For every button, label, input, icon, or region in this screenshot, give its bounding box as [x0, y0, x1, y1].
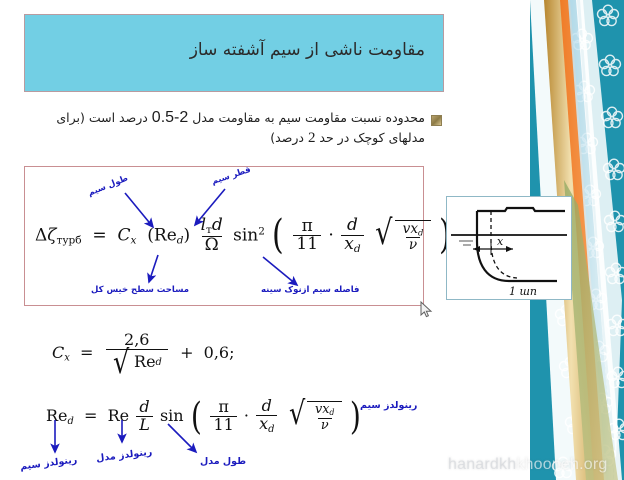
eq1-sin-exponent: 2	[258, 226, 265, 238]
radical-sign-icon: √	[113, 350, 129, 375]
mouse-pointer	[420, 301, 434, 319]
eq1-eleven: 11	[296, 234, 318, 254]
diagram-label-x: x	[497, 235, 504, 248]
eq3-fraction-vxd-nu: vxd ν	[312, 403, 338, 432]
radical-sign-icon: √	[375, 220, 392, 252]
eq3-d2: d	[262, 396, 272, 415]
eq1-nu: ν	[409, 237, 417, 253]
eq1-cx-sub: x	[131, 234, 137, 246]
eq1-square-root: √ vxd ν	[373, 220, 431, 252]
eq1-xd: x	[344, 234, 354, 254]
hull-bow-profile-diagram: x 1 шп	[446, 196, 572, 300]
eq3-nu: ν	[321, 418, 329, 433]
watermark-dim-text: hanardkh	[448, 456, 516, 473]
bullet-paragraph: محدوده نسبت مقاومت سیم به مقاومت مدل 0.5…	[22, 108, 442, 148]
eq1-fraction-vxd-nu: vxd ν	[400, 222, 427, 252]
eq2-const: 0,6;	[204, 343, 235, 362]
label-wetted-area: مساحت سطح خیس کل	[91, 285, 189, 295]
eq1-re-sub: d	[177, 234, 184, 246]
eq2-fraction: 2,6 √ Red	[106, 332, 168, 375]
site-watermark: hanardkhkhooneh.org	[448, 456, 608, 474]
eq1-fraction-l-omega: lтd Ω	[198, 217, 226, 255]
eq2-re: Re	[134, 354, 156, 371]
eq2-plus: +	[180, 343, 193, 362]
bullet-text: محدوده نسبت مقاومت سیم به مقاومت مدل 0.5…	[33, 108, 425, 148]
eq1-fraction-d-xd: d xd	[341, 217, 363, 255]
bullet-line2-number: 2	[308, 128, 316, 148]
eq1-d2: d	[347, 215, 358, 235]
eq2-re-sub: d	[156, 358, 162, 368]
eq2-cx: C	[52, 343, 64, 362]
watermark-text: khooneh.org	[516, 456, 607, 473]
main-formula-box: طول سیم قطر سیم مساحت سطح خیس کل فاصله س…	[24, 166, 424, 306]
eq1-xd-sub: d	[354, 243, 361, 255]
eq1-sin: sin	[233, 225, 258, 245]
eq1-omega: Ω	[205, 235, 219, 255]
bullet-line2-b: درصد)	[270, 130, 304, 145]
bullet-marker-icon	[431, 115, 442, 126]
eq1-x: x	[410, 221, 418, 237]
eq2-equals: =	[80, 343, 93, 362]
equation-cx: Cx = 2,6 √ Red + 0,6;	[52, 332, 235, 375]
diagram-label-frame: 1 шп	[509, 285, 537, 298]
eq1-zeta: ζ	[47, 225, 56, 245]
eq3-x-sub: d	[329, 408, 334, 417]
eq1-cx: C	[117, 225, 130, 245]
eq1-zeta-sub: турб	[57, 234, 82, 246]
eq1-x-sub: d	[418, 227, 423, 237]
slide-title-box: مقاومت ناشی از سیم آشفته ساز	[24, 14, 444, 92]
eq2-square-root: √ Red	[111, 350, 165, 375]
presentation-slide: مقاومت ناشی از سیم آشفته ساز محدوده نسبت…	[0, 0, 624, 480]
bullet-range-value: 0.5-2	[152, 108, 188, 128]
eq3-d: d	[139, 397, 149, 416]
label-distance-from-bow: فاصله سیم ازنوک سینه	[261, 285, 359, 295]
eq3-pi: π	[218, 397, 229, 416]
label-wire-reynolds-right: رینولدز سیم	[360, 400, 417, 411]
page-title: مقاومت ناشی از سیم آشفته ساز	[190, 40, 425, 60]
eq1-pi: π	[302, 216, 313, 236]
eq1-d: d	[212, 215, 223, 235]
eq1-re: Re	[154, 225, 177, 245]
eq1-fraction-pi-11: π 11	[293, 218, 321, 255]
bullet-line1-a: محدوده نسبت مقاومت سیم به مقاومت مدل	[192, 110, 425, 125]
eq1-delta: Δ	[35, 225, 47, 245]
eq2-cx-sub: x	[64, 353, 70, 364]
hull-profile-drawing: x 1 шп	[447, 197, 571, 299]
eq3-paren-close: )	[349, 405, 360, 428]
eq1-paren-open: (	[272, 224, 284, 248]
bullet-line2-a: کوچک در حد	[319, 130, 384, 145]
equation-turbulence-resistance: Δζтурб = Cx (Red) lтd Ω sin2 ( π 11 · d …	[35, 217, 452, 255]
label-model-length: طول مدل	[200, 456, 246, 467]
